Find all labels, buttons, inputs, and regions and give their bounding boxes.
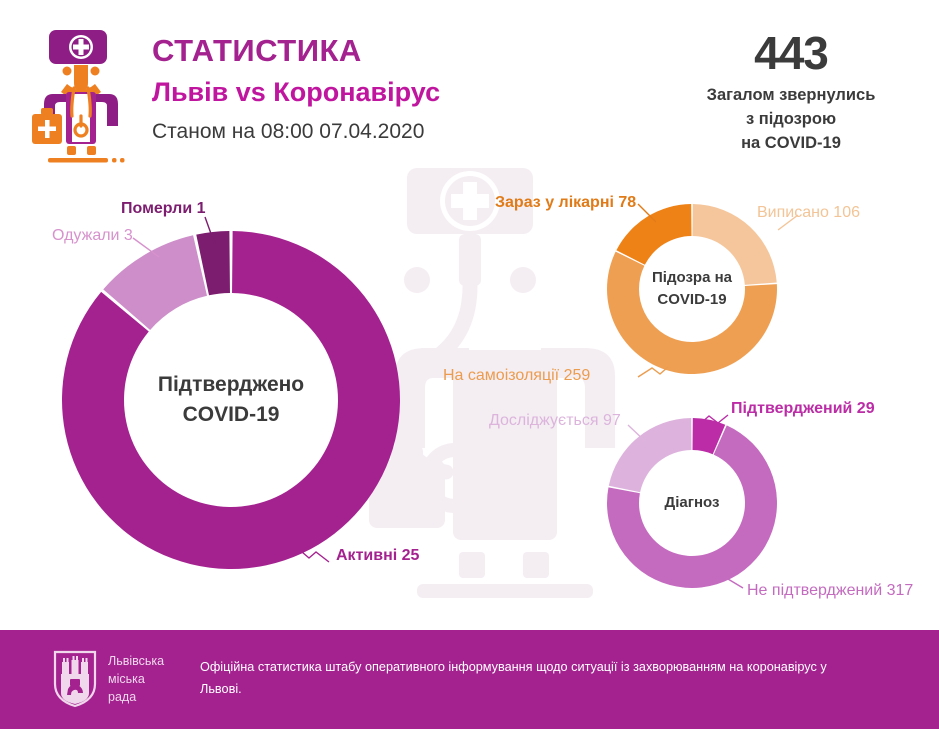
donut-chart-confirmed: Підтверджено COVID-19: [62, 231, 400, 569]
label-self-isolation: На самоізоляції 259: [443, 367, 590, 385]
infographic-page: СТАТИСТИКА Львів vs Коронавірус Станом н…: [0, 0, 939, 729]
footer-logo-line-2: міська: [108, 670, 164, 688]
title-block: СТАТИСТИКА Львів vs Коронавірус Станом н…: [152, 33, 622, 144]
donut-suspect-svg: [607, 204, 777, 374]
label-diagnosis-confirmed: Підтверджений 29: [731, 400, 875, 418]
page-subtitle: Львів vs Коронавірус: [152, 75, 622, 110]
donut-chart-suspect: Підозра на COVID-19: [607, 204, 777, 374]
lviv-city-council-logo: Львівська міська рада: [52, 646, 192, 712]
footer-logo-line-3: рада: [108, 688, 164, 706]
label-recovered: Одужали 3: [52, 227, 133, 245]
total-caption-line-3: на COVID-19: [660, 132, 922, 156]
donut-chart-diagnosis: Діагноз: [607, 418, 777, 588]
label-active: Активні 25: [336, 547, 419, 565]
label-in-hospital: Зараз у лікарні 78: [495, 194, 636, 212]
label-diagnosis-not-confirmed: Не підтверджений 317: [747, 582, 913, 600]
label-died: Померли 1: [121, 200, 206, 218]
page-title: СТАТИСТИКА: [152, 33, 622, 70]
as-of-date: Станом на 08:00 07.04.2020: [152, 120, 622, 144]
doctor-icon: [22, 24, 140, 170]
donut-confirmed-svg: [62, 231, 400, 569]
donut-segment: [609, 418, 692, 492]
total-number: 443: [660, 30, 922, 76]
donut-diagnosis-svg: [607, 418, 777, 588]
footer-disclaimer: Офіційна статистика штабу оперативного і…: [200, 656, 840, 700]
label-discharged: Виписано 106: [757, 204, 860, 222]
total-caption: Загалом звернулись з підозрою на COVID-1…: [660, 84, 922, 156]
total-caption-line-2: з підозрою: [660, 108, 922, 132]
label-diagnosis-under-investigation: Досліджується 97: [489, 412, 621, 430]
total-caption-line-1: Загалом звернулись: [660, 84, 922, 108]
footer-logo-text: Львівська міська рада: [108, 652, 164, 706]
footer-logo-line-1: Львівська: [108, 652, 164, 670]
donut-segment: [616, 204, 691, 265]
coat-of-arms-icon: [52, 649, 98, 709]
total-stat-block: 443 Загалом звернулись з підозрою на COV…: [660, 30, 922, 156]
footer-bar: Львівська міська рада Офіційна статистик…: [0, 630, 939, 729]
